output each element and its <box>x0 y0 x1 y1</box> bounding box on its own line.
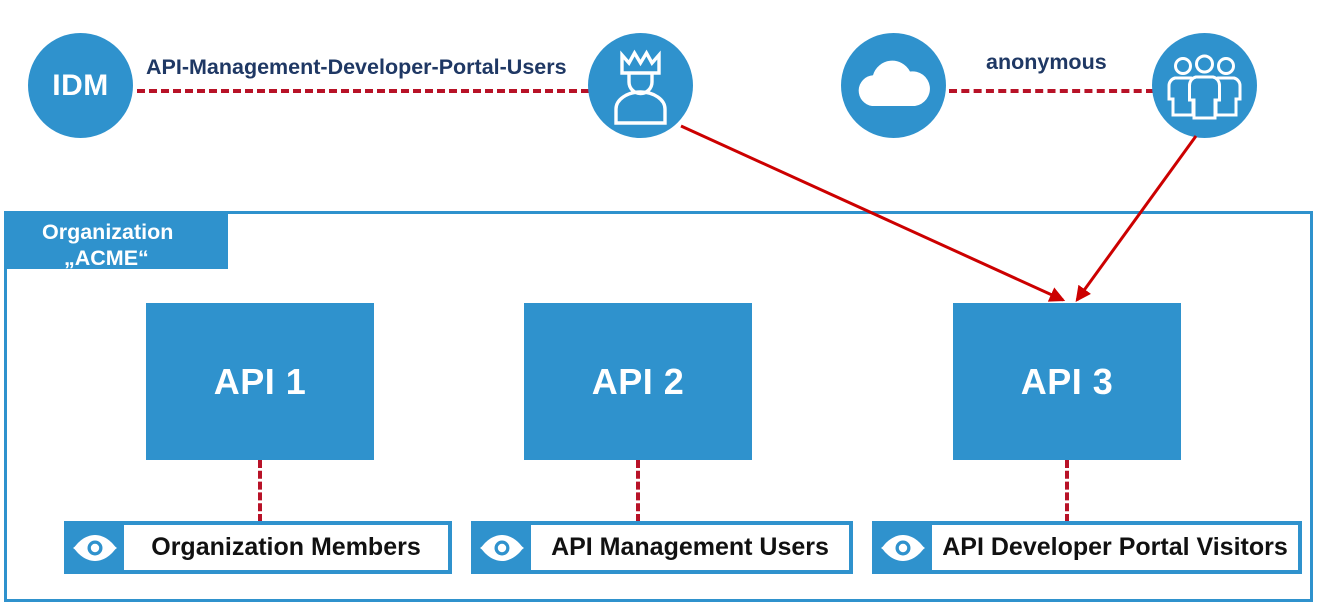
idm-label: IDM <box>52 71 109 101</box>
diagram-canvas: Organization „ACME“ IDM API-Management-D… <box>0 0 1317 610</box>
visibility-icon-cell-api3 <box>874 523 932 572</box>
api-box-2-label: API 2 <box>592 364 685 400</box>
link-api3-to-visibility <box>1065 460 1069 522</box>
crowned-user-icon <box>588 33 693 138</box>
organization-label-line2: „ACME“ <box>42 245 214 271</box>
visibility-label-api3: API Developer Portal Visitors <box>932 523 1300 572</box>
visibility-label-api2: API Management Users <box>531 523 851 572</box>
visibility-label-api1: Organization Members <box>124 523 450 572</box>
connector-label-api-management-developer-portal-users: API-Management-Developer-Portal-Users <box>146 57 567 79</box>
portal-user-circle[interactable] <box>588 33 693 138</box>
eye-icon <box>72 533 118 563</box>
api-box-3[interactable]: API 3 <box>953 303 1181 460</box>
eye-icon <box>880 533 926 563</box>
api-box-1-label: API 1 <box>214 364 307 400</box>
connector-label-anonymous: anonymous <box>986 52 1107 74</box>
organization-label-line1: Organization <box>42 220 173 244</box>
api-box-1[interactable]: API 1 <box>146 303 374 460</box>
user-group-icon <box>1152 33 1257 138</box>
eye-icon <box>479 533 525 563</box>
idm-circle[interactable]: IDM <box>28 33 133 138</box>
link-api1-to-visibility <box>258 460 262 522</box>
organization-label: Organization „ACME“ <box>4 211 228 269</box>
connector-cloud-to-user-group <box>949 89 1154 93</box>
api-box-3-label: API 3 <box>1021 364 1114 400</box>
visibility-chip-api1[interactable]: Organization Members <box>64 521 452 574</box>
cloud-icon <box>841 33 946 138</box>
cloud-circle[interactable] <box>841 33 946 138</box>
visibility-icon-cell-api2 <box>473 523 531 572</box>
visibility-icon-cell-api1 <box>66 523 124 572</box>
api-box-2[interactable]: API 2 <box>524 303 752 460</box>
connector-idm-to-portal-user <box>137 89 589 93</box>
visibility-chip-api3[interactable]: API Developer Portal Visitors <box>872 521 1302 574</box>
user-group-circle[interactable] <box>1152 33 1257 138</box>
visibility-chip-api2[interactable]: API Management Users <box>471 521 853 574</box>
link-api2-to-visibility <box>636 460 640 522</box>
